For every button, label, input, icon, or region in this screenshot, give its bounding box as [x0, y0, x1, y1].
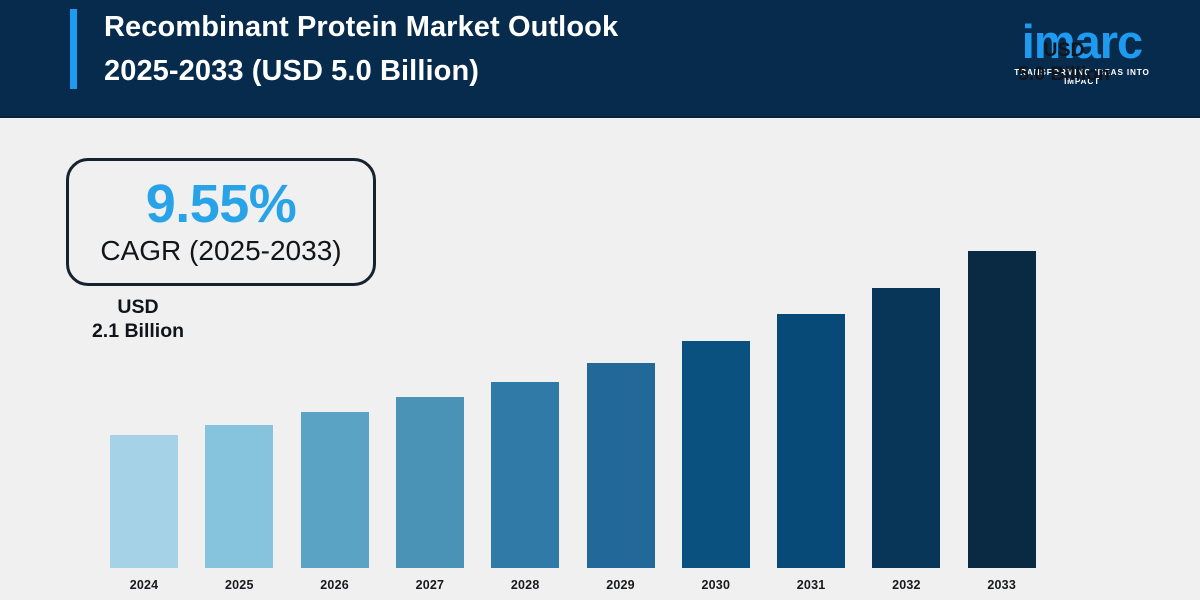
- bar-2032: 2032: [872, 288, 940, 568]
- bar-rect-2029: [587, 363, 655, 568]
- x-axis-label-2028: 2028: [491, 578, 559, 592]
- x-axis-label-2026: 2026: [301, 578, 369, 592]
- x-axis-label-2027: 2027: [396, 578, 464, 592]
- bar-rect-2028: [491, 382, 559, 568]
- bar-rect-2030: [682, 341, 750, 568]
- bar-rect-2032: [872, 288, 940, 568]
- callout-last-value: USD 5.0 Billion: [1000, 38, 1128, 86]
- x-axis-label-2025: 2025: [205, 578, 273, 592]
- bar-rect-2026: [301, 412, 369, 568]
- bar-2027: 2027: [396, 397, 464, 568]
- bar-rect-2024: [110, 435, 178, 568]
- callout-first-line-2: 2.1 Billion: [76, 319, 200, 343]
- x-axis-label-2024: 2024: [110, 578, 178, 592]
- x-axis-label-2029: 2029: [587, 578, 655, 592]
- bar-2029: 2029: [587, 363, 655, 568]
- x-axis-label-2033: 2033: [968, 578, 1036, 592]
- bar-chart: 2024202520262027202820292030203120322033: [0, 118, 1200, 600]
- bar-2025: 2025: [205, 425, 273, 568]
- callout-first-line-1: USD: [76, 295, 200, 319]
- header-accent-bar: [70, 9, 77, 89]
- bar-rect-2027: [396, 397, 464, 568]
- bar-2026: 2026: [301, 412, 369, 568]
- callout-last-line-1: USD: [1000, 38, 1128, 62]
- bar-2024: 2024: [110, 435, 178, 568]
- callout-first-value: USD 2.1 Billion: [76, 295, 200, 343]
- bar-2033: 2033: [968, 251, 1036, 568]
- bar-2028: 2028: [491, 382, 559, 568]
- page-title-line-2: 2025-2033 (USD 5.0 Billion): [104, 49, 904, 93]
- callout-last-line-2: 5.0 Billion: [1000, 62, 1128, 86]
- bar-rect-2025: [205, 425, 273, 568]
- bar-rect-2031: [777, 314, 845, 568]
- page-title-line-1: Recombinant Protein Market Outlook: [104, 5, 904, 49]
- page-title: Recombinant Protein Market Outlook 2025-…: [104, 5, 904, 93]
- x-axis-label-2030: 2030: [682, 578, 750, 592]
- x-axis-label-2031: 2031: [777, 578, 845, 592]
- bar-rect-2033: [968, 251, 1036, 568]
- bar-2031: 2031: [777, 314, 845, 568]
- bar-2030: 2030: [682, 341, 750, 568]
- x-axis-label-2032: 2032: [872, 578, 940, 592]
